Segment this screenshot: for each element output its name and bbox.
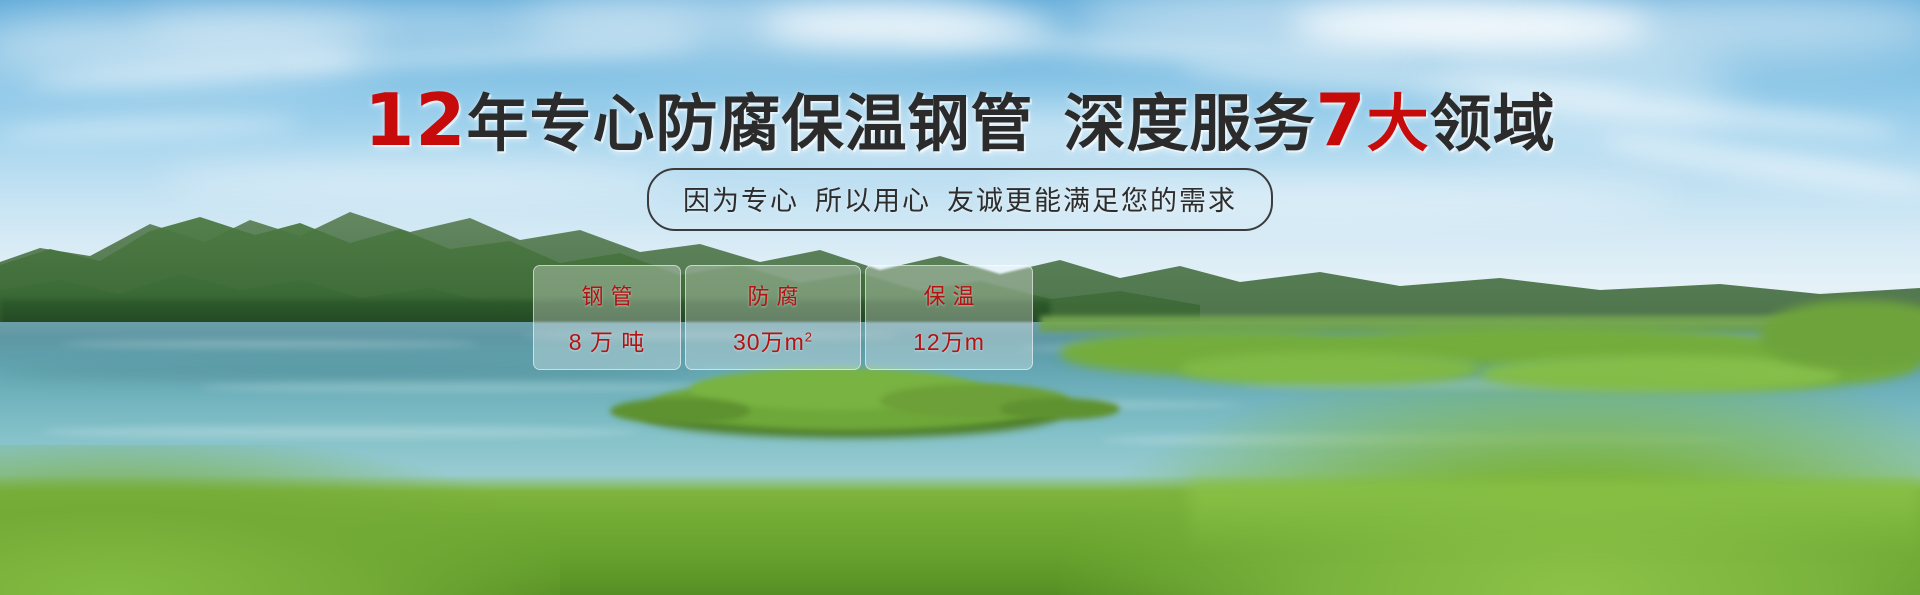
banner-subtitle-wrap: 因为专心所以用心友诚更能满足您的需求 <box>0 168 1920 231</box>
stat-card-steel-pipe: 钢管 8 万 吨 <box>533 265 681 370</box>
banner-headline: 12年专心防腐保温钢管深度服务7大领域 <box>0 84 1920 156</box>
stat-card-value-text: 8 万 吨 <box>569 329 646 355</box>
subtitle-part-1: 因为专心 <box>683 186 799 216</box>
headline-segment-3: 领域 <box>1430 90 1556 159</box>
headline-segment-1: 专心防腐保温钢管 <box>530 90 1034 159</box>
hero-banner: 12年专心防腐保温钢管深度服务7大领域 因为专心所以用心友诚更能满足您的需求 钢… <box>0 0 1920 595</box>
stat-card-label: 防腐 <box>740 279 805 311</box>
subtitle-part-3: 友诚更能满足您的需求 <box>947 186 1237 216</box>
stat-card-anticorrosion: 防腐 30万m2 <box>685 265 861 370</box>
headline-segment-2: 深度服务 <box>1064 90 1316 159</box>
stat-card-value: 12万m <box>913 323 985 357</box>
stat-card-insulation: 保温 12万m <box>865 265 1033 370</box>
stat-card-label: 钢管 <box>574 279 639 311</box>
subtitle-part-2: 所以用心 <box>815 186 931 216</box>
stat-card-value: 30万m2 <box>733 323 813 357</box>
headline-highlight-number: 7 <box>1316 78 1367 162</box>
headline-highlight-unit: 大 <box>1367 90 1430 159</box>
stat-card-value-exponent: 2 <box>805 329 813 344</box>
stat-card-value: 8 万 吨 <box>569 323 646 357</box>
stat-card-value-text: 12万m <box>913 329 985 355</box>
banner-subtitle-pill: 因为专心所以用心友诚更能满足您的需求 <box>647 168 1273 231</box>
headline-years-number: 12 <box>364 78 466 162</box>
stat-card-value-text: 30万m <box>733 329 805 355</box>
headline-years-unit: 年 <box>467 90 530 159</box>
stat-card-label: 保温 <box>916 279 981 311</box>
stat-card-group: 钢管 8 万 吨 防腐 30万m2 保温 12万m <box>533 265 1033 370</box>
